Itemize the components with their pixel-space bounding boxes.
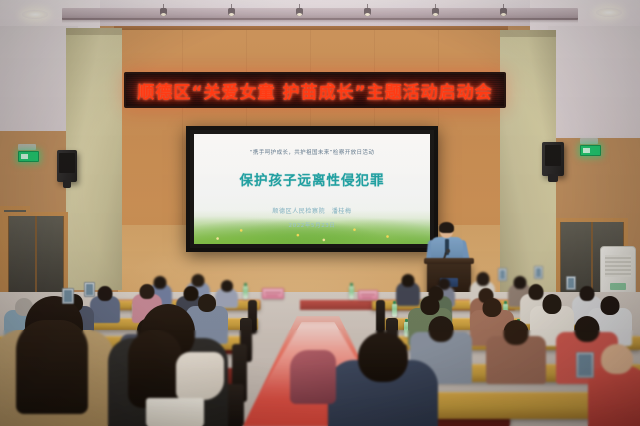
raised-phone-foreground xyxy=(576,352,594,378)
microphone-icon xyxy=(446,249,450,253)
name-card xyxy=(358,290,378,300)
audience-member-foreground-far-right xyxy=(588,344,640,426)
wall-speaker-left xyxy=(57,150,77,182)
track-spotlight-icon xyxy=(228,4,235,17)
notebook xyxy=(146,398,204,426)
collar-foreground-center xyxy=(176,352,224,400)
slide-date: 2022年5月23日 xyxy=(289,221,336,229)
exit-sign-mount xyxy=(18,144,36,150)
track-spotlight-icon xyxy=(160,4,167,17)
raised-phone xyxy=(84,282,95,297)
track-spotlight-icon xyxy=(296,4,303,17)
bench-armrest xyxy=(376,300,385,334)
audience-member-foreground-pink xyxy=(290,350,336,404)
track-spotlight-icon xyxy=(432,4,439,17)
raised-phone xyxy=(534,266,543,279)
slide-eyebrow-text: “携手呵护成长，共护祖国未来”检察开放日活动 xyxy=(250,148,375,156)
side-wall-right xyxy=(548,26,640,138)
projection-screen-frame: “携手呵护成长，共护祖国未来”检察开放日活动 保护孩子远离性侵犯罪 顺德区人民检… xyxy=(186,126,438,252)
exit-sign-mount xyxy=(580,138,598,144)
water-bottle xyxy=(349,286,354,299)
exit-sign-icon xyxy=(580,145,601,156)
track-spotlight-icon xyxy=(500,4,507,17)
raised-phone xyxy=(566,276,576,290)
track-spotlight-icon xyxy=(364,4,371,17)
projection-screen: “携手呵护成长，共护祖国未来”检察开放日活动 保护孩子远离性侵犯罪 顺德区人民检… xyxy=(194,134,430,244)
water-bottle xyxy=(392,304,397,317)
name-card xyxy=(262,288,284,299)
door-left[interactable] xyxy=(4,212,68,296)
led-banner-text: 顺德区“关爱女童 护苗成长”主题活动启动会 xyxy=(137,78,492,103)
exit-sign-icon xyxy=(18,151,39,162)
led-banner: 顺德区“关爱女童 护苗成长”主题活动启动会 xyxy=(124,72,506,108)
audience-member-foreground-right xyxy=(328,332,438,426)
slide-title: 保护孩子远离性侵犯罪 xyxy=(240,169,385,189)
wall-speaker-right xyxy=(542,142,564,176)
conference-hall-photo: 顺德区“关爱女童 护苗成长”主题活动启动会 “携手呵护成长，共护祖国未来”检察开… xyxy=(0,0,640,426)
audience-member xyxy=(486,320,546,382)
downlight-icon xyxy=(596,8,622,17)
hair-foreground-left xyxy=(16,320,88,414)
raised-phone xyxy=(498,268,507,281)
water-bottle xyxy=(243,286,248,299)
ceiling-beam-shadow xyxy=(62,18,578,23)
downlight-icon xyxy=(22,10,48,19)
slide-organization: 顺德区人民检察院 潘桂梅 xyxy=(272,206,351,215)
ponytail xyxy=(128,330,182,408)
raised-phone xyxy=(62,288,74,304)
